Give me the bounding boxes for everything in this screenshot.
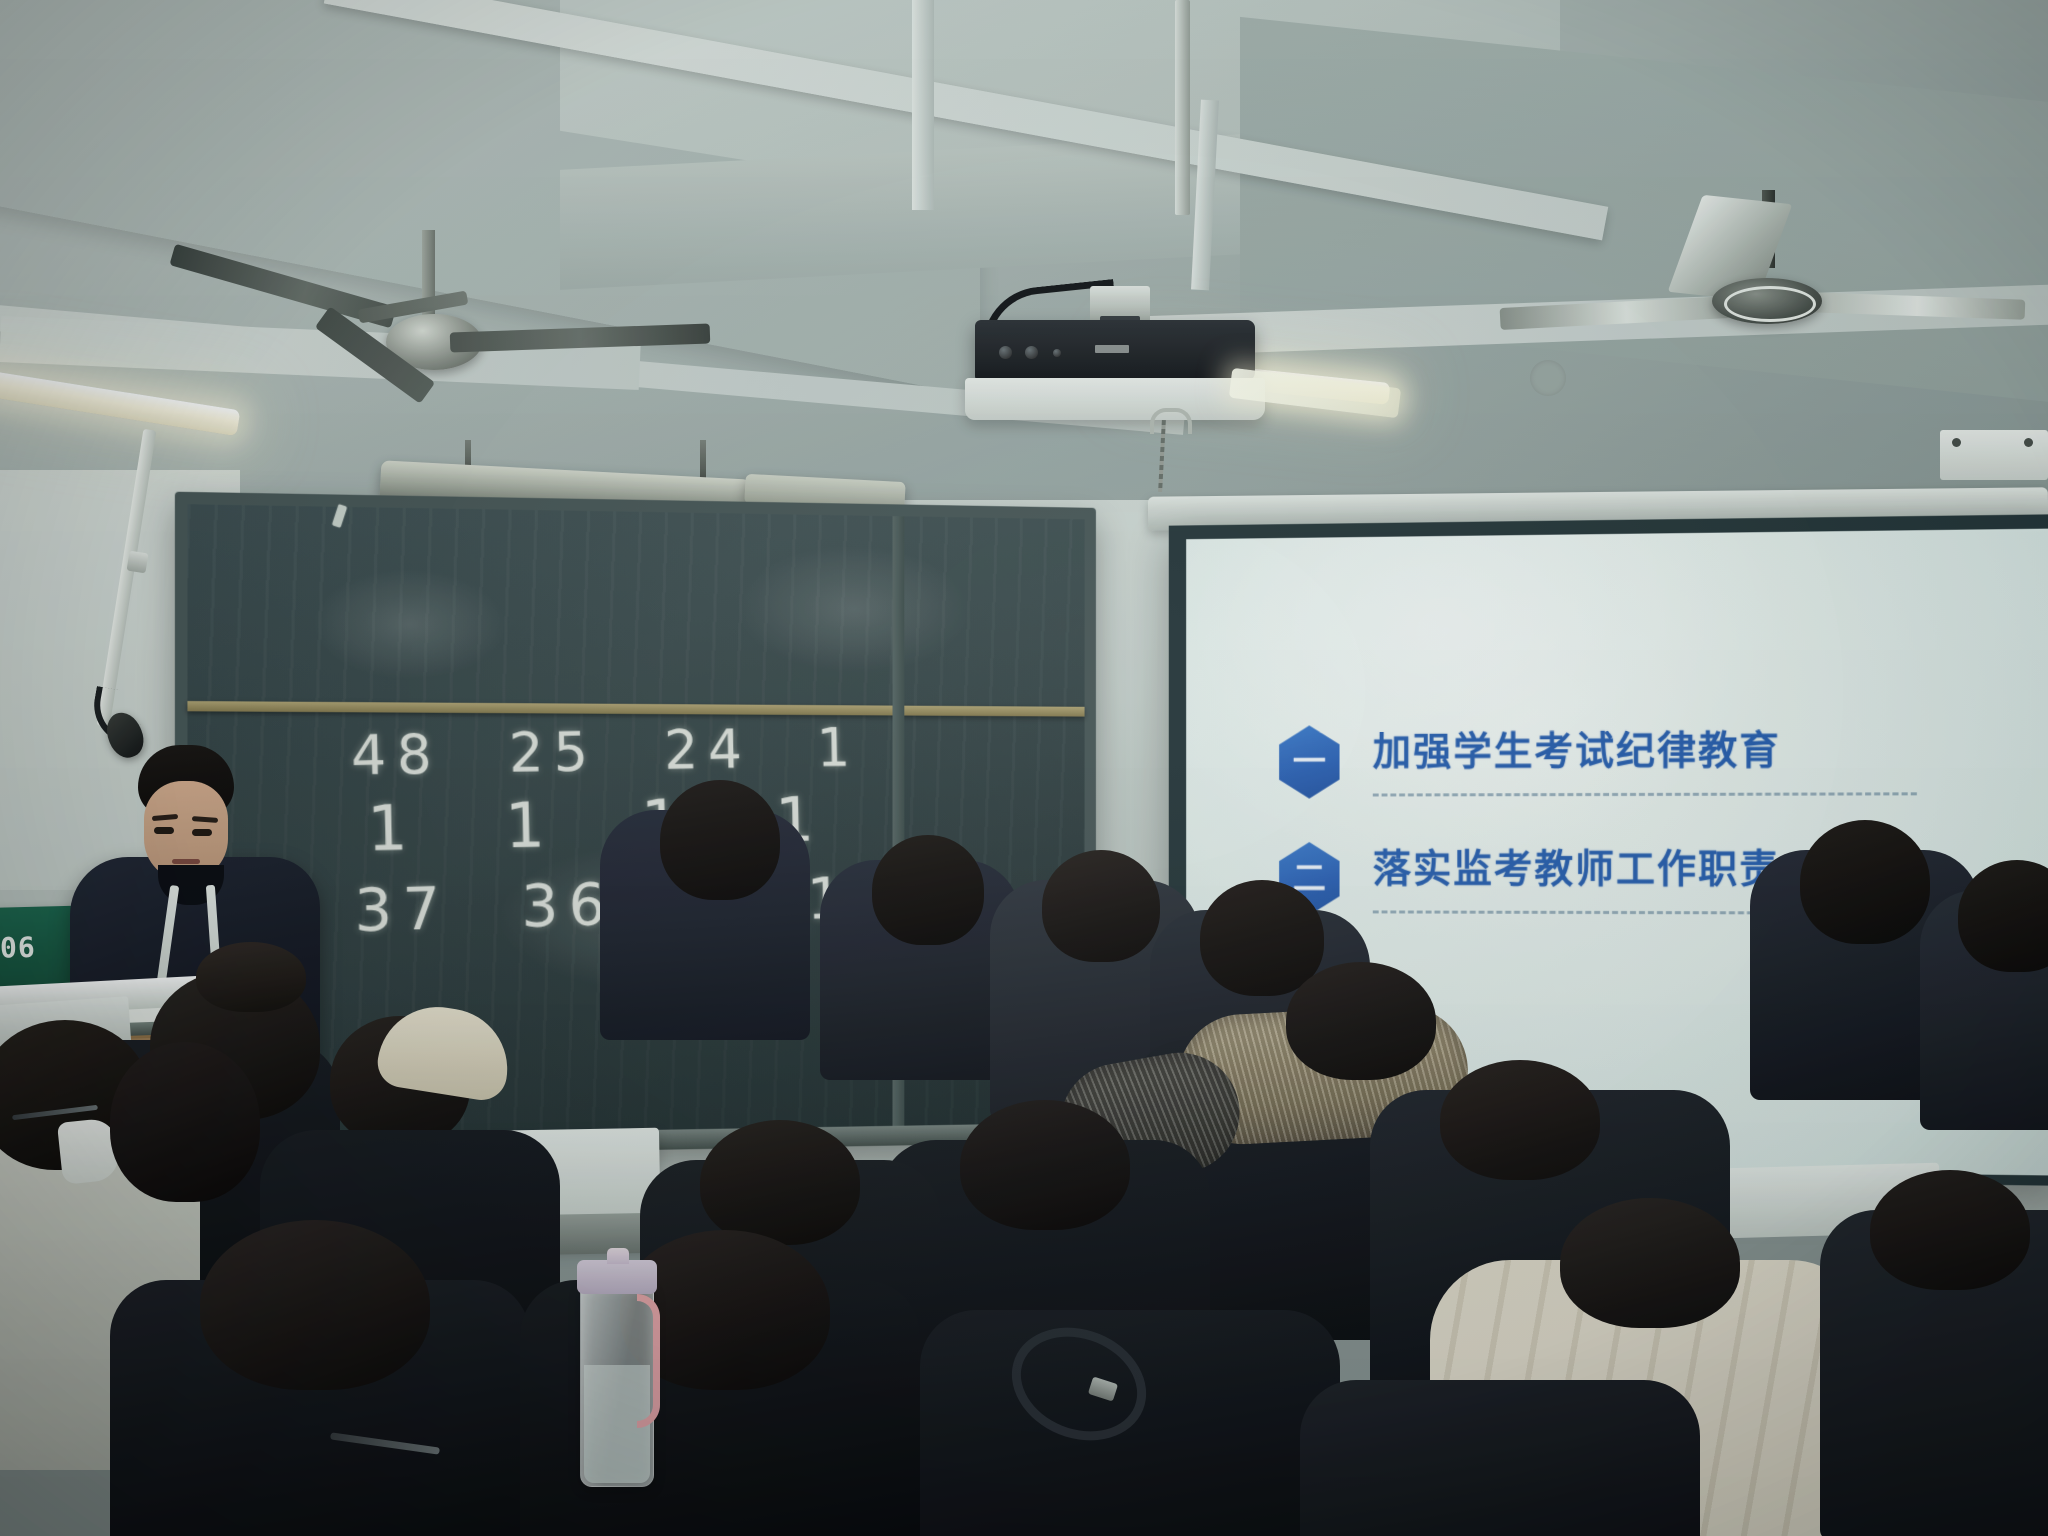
slide-item: 一 加强学生考试纪律教育 <box>1279 722 1917 798</box>
blackboard-number: 1 <box>816 716 861 779</box>
fan-hub <box>1712 278 1822 324</box>
blackboard-number: 37 <box>354 874 451 945</box>
student-head <box>110 1042 260 1202</box>
blackboard-number: 24 <box>663 718 752 782</box>
blackboard-tick: 1 <box>504 788 545 862</box>
student-head <box>1200 880 1324 996</box>
student-head <box>1042 850 1160 962</box>
projector-lens-icon <box>1025 346 1038 359</box>
student-head <box>1560 1198 1740 1328</box>
light-hanger-rod <box>700 440 706 480</box>
slide-badge-label: 一 <box>1293 745 1326 779</box>
student-head <box>1800 820 1930 944</box>
projector <box>975 320 1255 382</box>
ceiling-fan-right <box>1500 190 2000 380</box>
bottle-strap <box>637 1294 660 1428</box>
student-hair-bun <box>196 942 306 1012</box>
ceiling-beam-vertical-1 <box>912 0 934 210</box>
student-head <box>700 1120 860 1245</box>
screw-icon <box>2024 438 2033 447</box>
slide-divider <box>1373 792 1917 796</box>
projector-label <box>1095 345 1129 353</box>
classroom-photo-scene: 48 25 24 1 1 1 1 1 37 36 13:12 <box>0 0 2048 1536</box>
student-head <box>200 1220 430 1390</box>
student-head <box>660 780 780 900</box>
student-head <box>960 1100 1130 1230</box>
ceiling-pipe <box>1175 0 1190 215</box>
chalk-smudge <box>312 567 506 681</box>
projector-indicator-icon <box>1053 349 1061 357</box>
blackboard-row-top: 48 25 24 1 <box>350 713 1044 788</box>
presenter-eye <box>192 829 212 836</box>
presenter-mouth <box>172 859 200 864</box>
student-coat <box>1300 1380 1700 1536</box>
fan-blade <box>450 323 711 352</box>
water-bottle <box>580 1285 654 1487</box>
seat-number: 06 <box>0 930 36 964</box>
slide-item-text: 加强学生考试纪律教育 <box>1373 729 1917 776</box>
ceiling-hook-icon <box>1150 408 1192 434</box>
microphone-pole-joint <box>127 551 149 574</box>
student-head <box>872 835 984 945</box>
blackboard-number: 25 <box>508 720 599 785</box>
student-head <box>1870 1170 2030 1290</box>
projector-lens-icon <box>999 346 1012 359</box>
student-head <box>1286 962 1436 1080</box>
presenter-eye <box>154 827 174 834</box>
slide-badge-one: 一 <box>1279 725 1339 798</box>
audience <box>0 980 2048 1536</box>
chalk-smudge <box>736 543 970 674</box>
student-head <box>1440 1060 1600 1180</box>
chalk-mark <box>332 504 348 528</box>
fan-blade <box>1810 292 2026 319</box>
projector-ceiling-plate <box>965 378 1265 420</box>
bottle-spout-icon <box>607 1248 629 1264</box>
screw-icon <box>1952 438 1961 447</box>
blackboard-tick: 1 <box>366 791 408 866</box>
blackboard-number: 48 <box>350 722 442 787</box>
bottle-cap <box>577 1260 657 1294</box>
fan-blade <box>1500 296 1731 330</box>
wall-mount-plate <box>1940 430 2048 480</box>
